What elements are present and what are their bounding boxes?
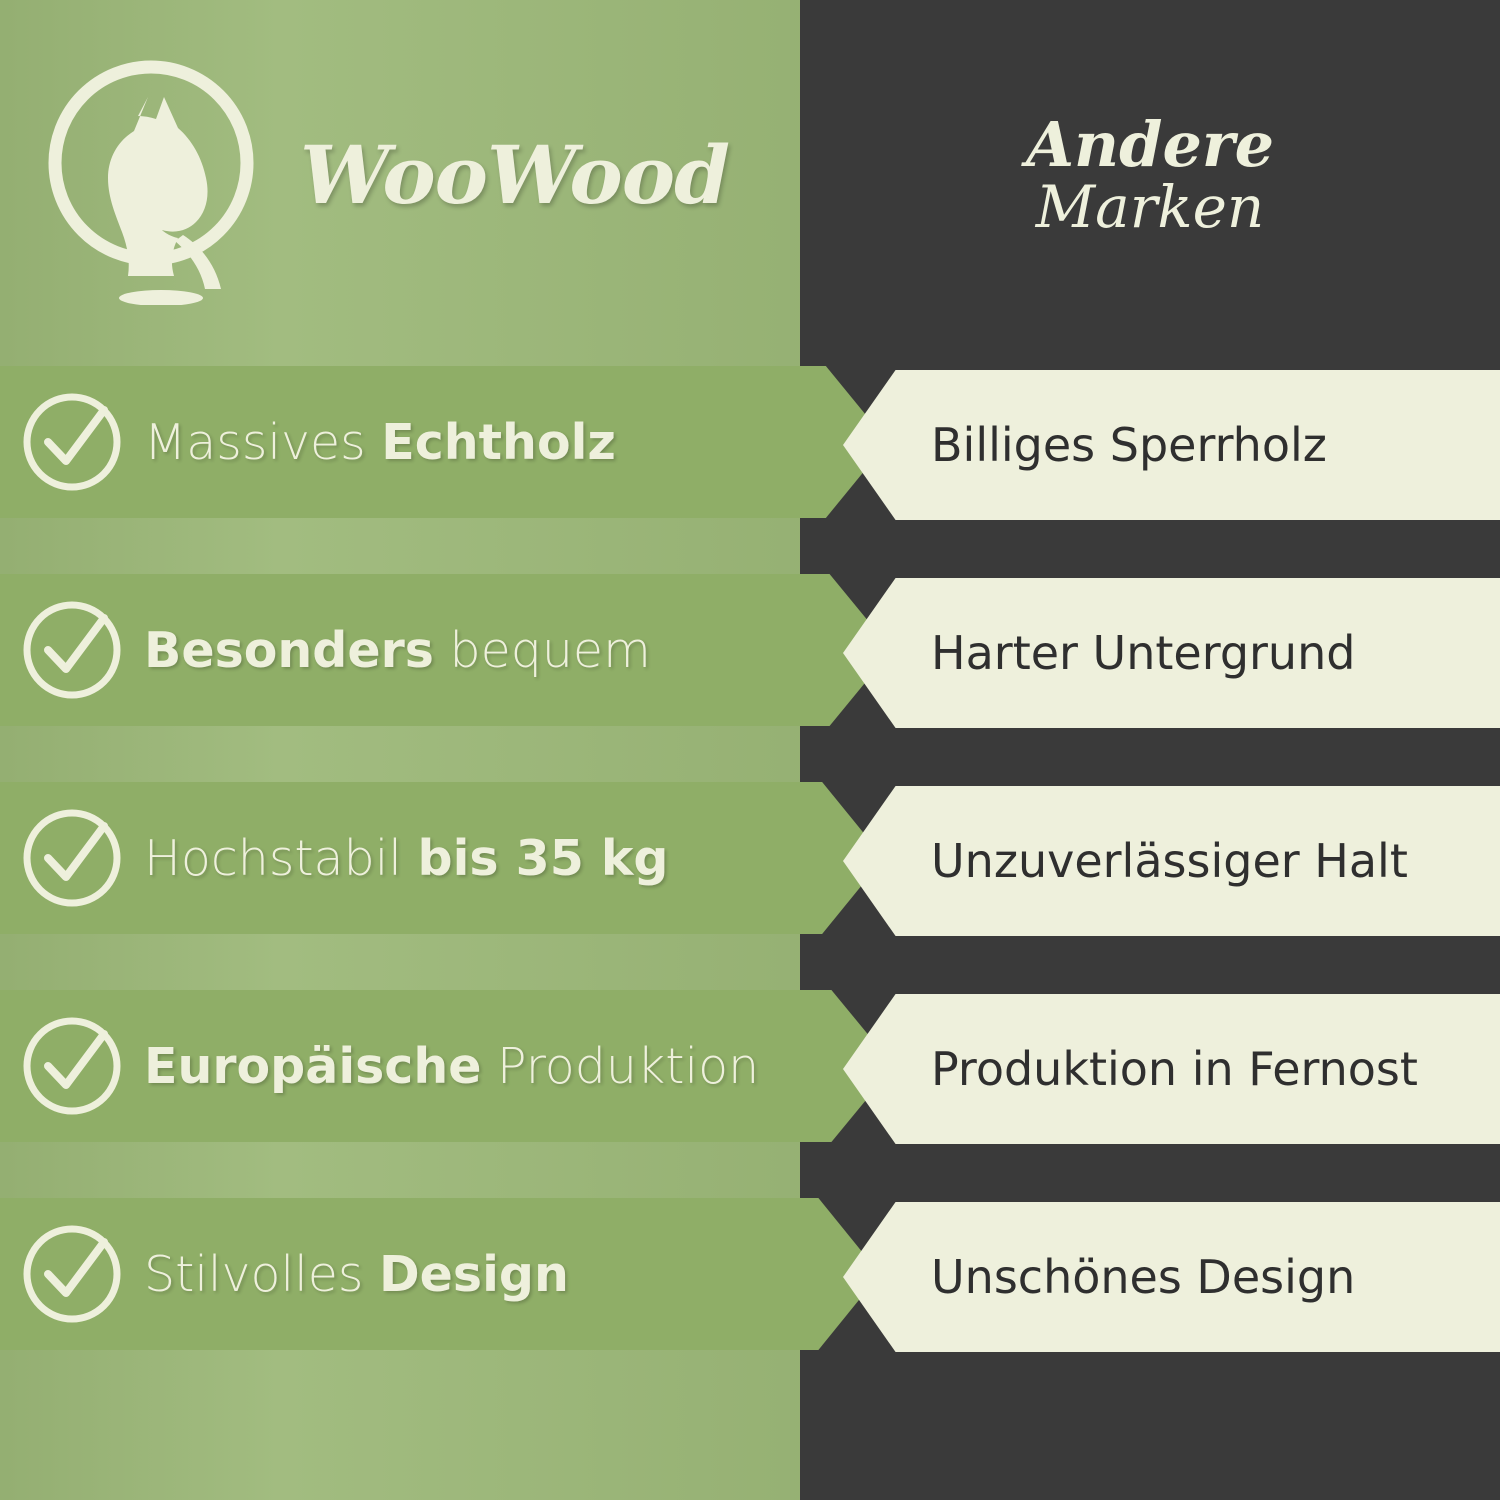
pro-text-bold: Besonders xyxy=(144,622,434,679)
pro-text-prefix: Stilvolles xyxy=(144,1246,379,1303)
brand-header: WooWood xyxy=(0,0,800,350)
con-text: Produktion in Fernost xyxy=(931,1042,1418,1096)
pro-text: Stilvolles Design xyxy=(144,1246,569,1303)
pro-text-bold: bis 35 kg xyxy=(418,830,669,887)
con-text: Unschönes Design xyxy=(931,1250,1355,1304)
pro-text-bold: Design xyxy=(379,1246,569,1303)
con-banner: Unzuverlässiger Halt xyxy=(843,786,1500,936)
pro-text: Besonders bequem xyxy=(144,622,651,679)
pro-text: Massives Echtholz xyxy=(144,414,616,471)
comparison-row: Besonders bequem Harter Untergrund xyxy=(0,560,1500,768)
comparison-infographic: WooWood Andere Marken Massives Echtholz … xyxy=(0,0,1500,1500)
pro-banner: Hochstabil bis 35 kg xyxy=(0,782,884,934)
pro-banner: Europäische Produktion xyxy=(0,990,894,1142)
comparison-rows: Massives Echtholz Billiges Sperrholz Bes… xyxy=(0,352,1500,1500)
pro-text-suffix: bequem xyxy=(434,622,651,679)
comparison-row: Hochstabil bis 35 kg Unzuverlässiger Hal… xyxy=(0,768,1500,976)
con-banner: Billiges Sperrholz xyxy=(843,370,1500,520)
check-circle-icon xyxy=(18,388,126,496)
pro-banner: Stilvolles Design xyxy=(0,1198,880,1350)
pro-text-suffix: Produktion xyxy=(481,1038,759,1095)
comparison-row: Europäische Produktion Produktion in Fer… xyxy=(0,976,1500,1184)
cat-in-circle-logo-icon xyxy=(30,45,292,305)
con-banner: Unschönes Design xyxy=(843,1202,1500,1352)
comparison-row: Massives Echtholz Billiges Sperrholz xyxy=(0,352,1500,560)
pro-banner: Besonders bequem xyxy=(0,574,892,726)
con-banner: Harter Untergrund xyxy=(843,578,1500,728)
pro-text-prefix: Hochstabil xyxy=(144,830,418,887)
con-banner: Produktion in Fernost xyxy=(843,994,1500,1144)
pro-text: Hochstabil bis 35 kg xyxy=(144,830,669,887)
pro-text: Europäische Produktion xyxy=(144,1038,759,1095)
check-circle-icon xyxy=(18,804,126,912)
check-circle-icon xyxy=(18,1012,126,1120)
competitor-header-line2: Marken xyxy=(1036,177,1265,238)
pro-text-bold: Echtholz xyxy=(381,414,616,471)
pro-banner: Massives Echtholz xyxy=(0,366,888,518)
check-circle-icon xyxy=(18,1220,126,1328)
con-text: Harter Untergrund xyxy=(931,626,1355,680)
competitor-header: Andere Marken xyxy=(800,0,1500,350)
pro-text-prefix: Massives xyxy=(144,414,381,471)
check-circle-icon xyxy=(18,596,126,704)
pro-text-bold: Europäische xyxy=(144,1038,481,1095)
con-text: Billiges Sperrholz xyxy=(931,418,1327,472)
con-text: Unzuverlässiger Halt xyxy=(931,834,1408,888)
brand-name: WooWood xyxy=(300,128,729,222)
comparison-row: Stilvolles Design Unschönes Design xyxy=(0,1184,1500,1392)
competitor-header-line1: Andere xyxy=(1026,112,1274,177)
